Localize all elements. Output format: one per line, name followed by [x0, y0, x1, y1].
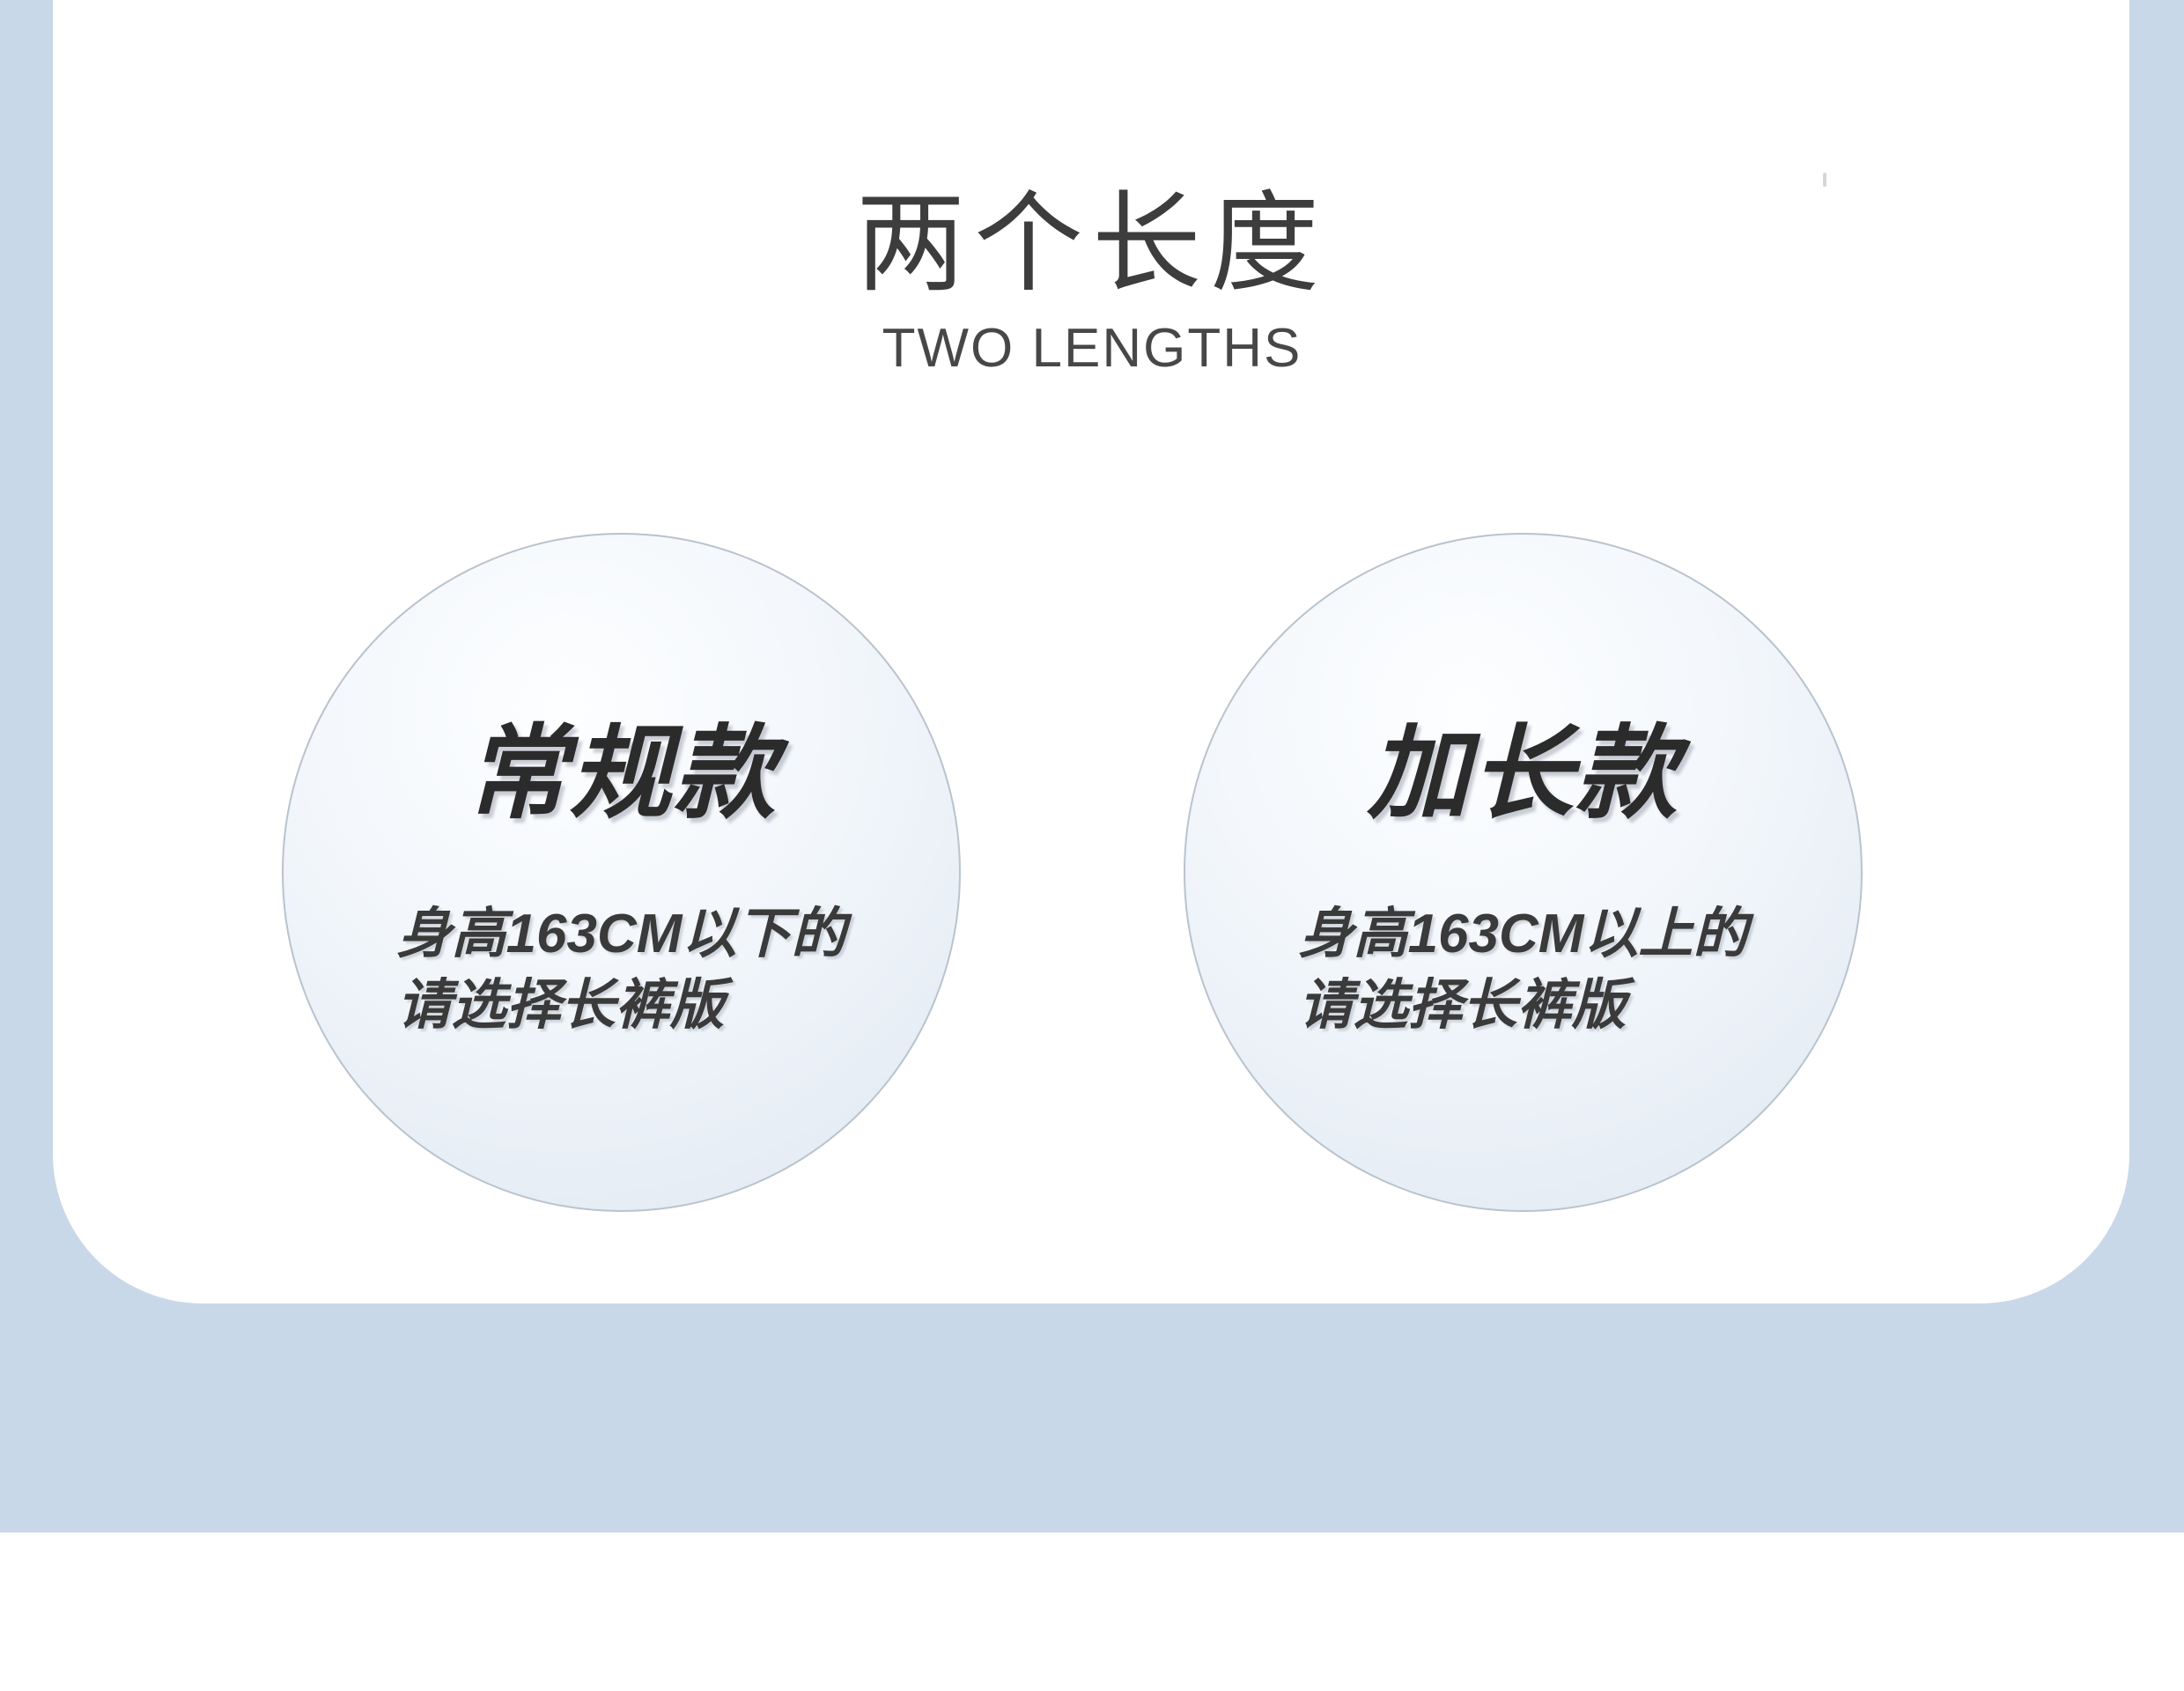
option-heading-extended: 加长款: [1368, 722, 1679, 824]
page-title-cn: 两个长度: [0, 189, 2184, 299]
option-description-line-2: 请选择长裤版: [1299, 971, 1748, 1042]
option-description-line-1: 身高163CM以下的: [397, 899, 846, 971]
product-detail-panel: 两个长度 TWO LENGTHS 常规款 身高163CM以下的 请选择长裤版 加…: [0, 0, 2184, 1691]
option-circle-regular[interactable]: 常规款 身高163CM以下的 请选择长裤版: [282, 533, 961, 1212]
image-artifact-speck: [1823, 173, 1826, 187]
option-description-line-2: 请选择长裤版: [397, 971, 846, 1042]
option-description-extended: 身高163CM以上的 请选择长裤版: [1299, 899, 1748, 1041]
option-description-regular: 身高163CM以下的 请选择长裤版: [397, 899, 846, 1041]
option-circle-extended[interactable]: 加长款 身高163CM以上的 请选择长裤版: [1184, 533, 1863, 1212]
option-heading-regular: 常规款: [466, 722, 778, 824]
option-description-line-1: 身高163CM以上的: [1299, 899, 1748, 971]
section-heading-group: 两个长度 TWO LENGTHS: [0, 189, 2184, 376]
page-title-en: TWO LENGTHS: [0, 321, 2184, 376]
